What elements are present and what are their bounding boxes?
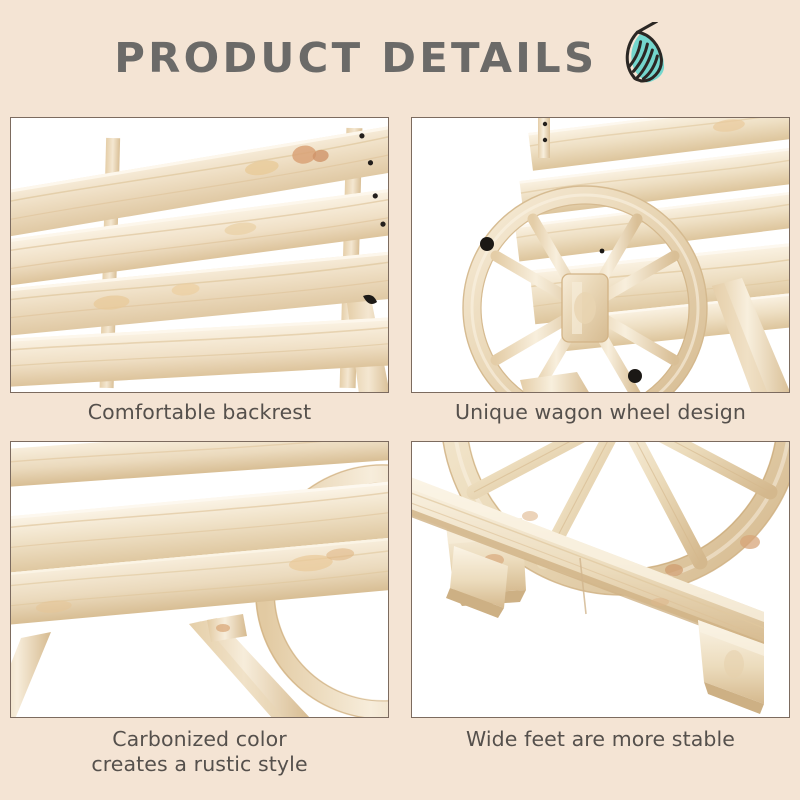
detail-panel-carbonized-color[interactable] (10, 441, 389, 718)
caption-carbonized-color: Carbonized color creates a rustic style (10, 727, 389, 777)
detail-panel-wide-feet[interactable] (411, 441, 790, 718)
detail-panel-comfortable-backrest[interactable] (10, 117, 389, 393)
caption-comfortable-backrest: Comfortable backrest (10, 400, 389, 425)
caption-line-1: Carbonized color (10, 727, 389, 752)
wagon-wheel-photo (412, 118, 789, 392)
caption-wide-feet: Wide feet are more stable (411, 727, 790, 752)
caption-line-2: creates a rustic style (10, 752, 389, 777)
page-title: PRODUCT DETAILS (114, 38, 597, 79)
caption-wagon-wheel: Unique wagon wheel design (411, 400, 790, 425)
backrest-photo (11, 118, 388, 392)
page-header: PRODUCT DETAILS (0, 0, 800, 117)
detail-panel-wagon-wheel[interactable] (411, 117, 790, 393)
seat-slats-photo (11, 442, 388, 717)
wide-feet-photo (412, 442, 789, 717)
leaf-icon (609, 22, 681, 98)
